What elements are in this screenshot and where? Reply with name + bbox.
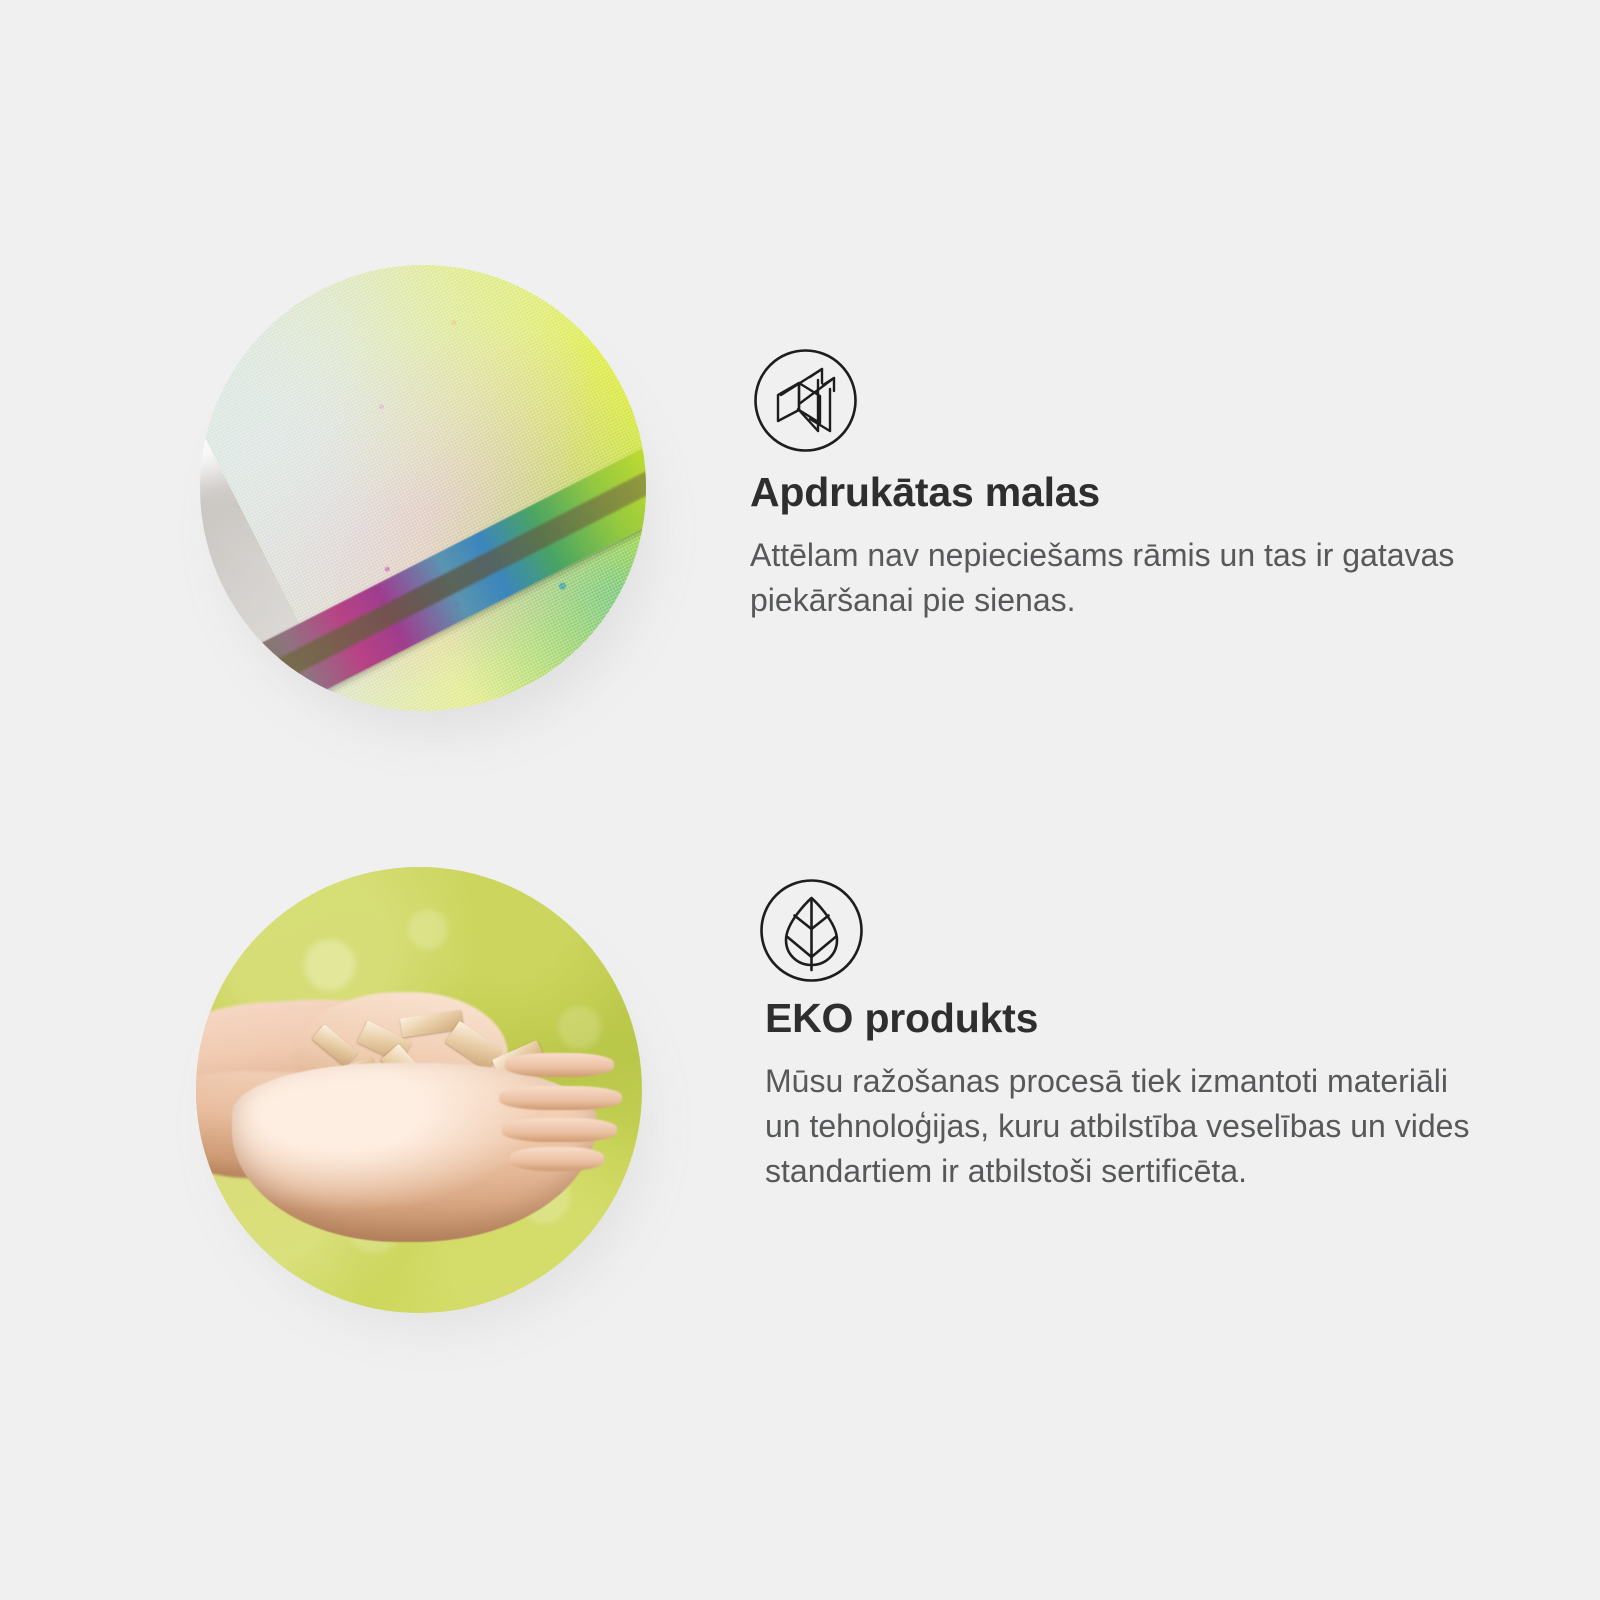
leaf-icon [758,877,865,984]
photo-printed-edges [200,265,646,711]
canvas-print-corner-photo [200,265,646,711]
hands-holding-wood-chips-photo [196,867,642,1313]
photo-eco-product [196,867,642,1313]
canvas-wrapped-edges-icon [752,347,859,454]
feature-description-printed-edges: Attēlam nav nepieciešams rāmis un tas ir… [750,533,1460,623]
feature-panel: Apdrukātas malas Attēlam nav nepieciešam… [0,0,1600,1600]
feature-title-eco-product: EKO produkts [765,995,1038,1042]
feature-description-eco-product: Mūsu ražošanas procesā tiek izmantoti ma… [765,1059,1477,1194]
feature-title-printed-edges: Apdrukātas malas [750,469,1100,516]
fingers [499,1045,633,1179]
